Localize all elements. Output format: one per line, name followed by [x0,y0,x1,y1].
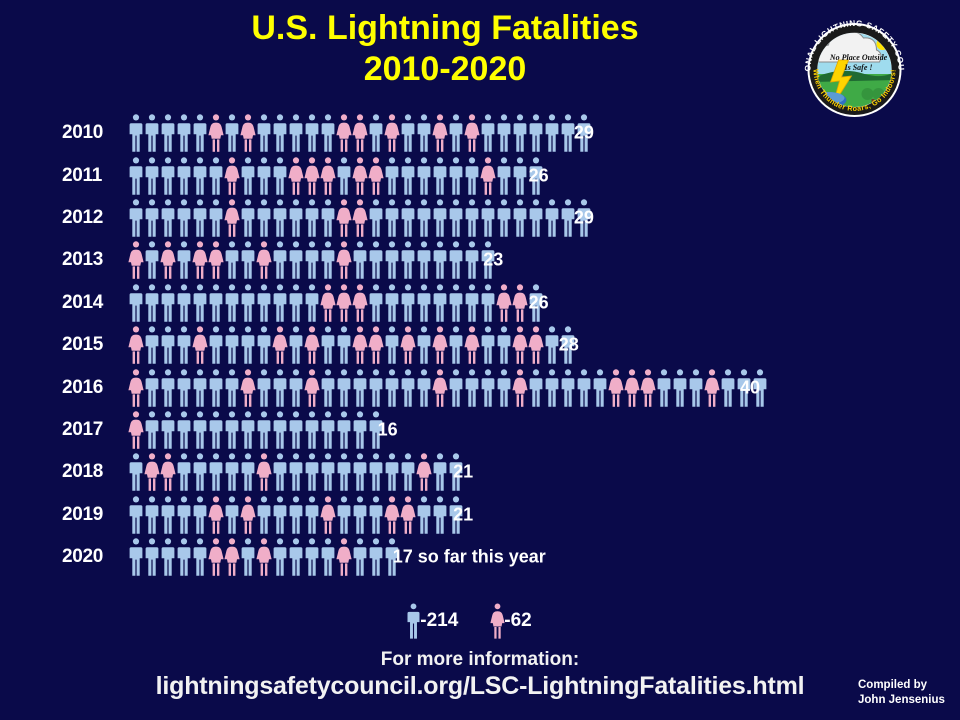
row-figures [128,157,544,195]
title-line-2: 2010-2020 [0,49,890,90]
chart-row: 201821 [0,451,960,493]
row-figures [128,453,464,491]
chart-row: 201029 [0,112,960,154]
row-year-label: 2012 [62,207,124,229]
row-figures [128,496,464,534]
chart-row: 201323 [0,239,960,281]
row-year-label: 2015 [62,334,124,356]
row-count-label: 28 [559,335,579,356]
logo-center-line-1: No Place Outside [829,53,888,62]
row-count-label: 21 [453,504,473,525]
row-year-label: 2018 [62,461,124,483]
row-figures [128,199,592,237]
row-count-label: 17 so far this year [393,547,546,568]
row-figures [128,114,592,152]
row-count-label: 26 [529,165,549,186]
lightning-safety-council-logo: NATIONAL LIGHTNING SAFETY COUNCIL When T… [782,8,927,128]
row-year-label: 2014 [62,292,124,314]
chart-row: 201426 [0,282,960,324]
row-count-label: 26 [529,292,549,313]
compiled-by-line-1: Compiled by [858,678,952,693]
male-figure-icon [406,603,421,639]
chart-row: 201126 [0,154,960,196]
row-figures [128,369,768,407]
row-year-label: 2016 [62,377,124,399]
pictogram-chart: 2010292011262012292013232014262015282016… [0,112,960,578]
row-figures [128,241,496,279]
row-figures [128,284,544,322]
chart-row: 202017 so far this year [0,536,960,578]
chart-row: 201640 [0,366,960,408]
chart-legend: -214-62 [0,603,960,639]
row-count-label: 29 [574,207,594,228]
row-count-label: 16 [378,419,398,440]
chart-row: 201229 [0,197,960,239]
row-count-label: 40 [740,377,760,398]
infographic-canvas: U.S. Lightning Fatalities 2010-2020 [0,0,960,720]
logo-center-line-2: Is Safe ! [843,63,872,72]
compiled-by-credit: Compiled by John Jensenius [858,678,952,708]
footer-info-label: For more information: [0,648,960,671]
row-figures [128,538,400,576]
legend-item-label: -62 [504,610,531,632]
row-year-label: 2019 [62,504,124,526]
footer: For more information: lightningsafetycou… [0,648,960,702]
chart-row: 201528 [0,324,960,366]
female-figure-icon [490,603,505,639]
row-figures [128,411,384,449]
row-year-label: 2017 [62,419,124,441]
legend-item-label: -214 [420,610,458,632]
row-count-label: 21 [453,462,473,483]
chart-row: 201716 [0,409,960,451]
row-count-label: 23 [483,250,503,271]
chart-row: 201921 [0,494,960,536]
legend-item: -62 [490,603,531,639]
row-year-label: 2013 [62,249,124,271]
title-line-1: U.S. Lightning Fatalities [251,9,638,47]
row-figures [128,326,576,364]
row-count-label: 29 [574,123,594,144]
row-year-label: 2010 [62,122,124,144]
legend-item: -214 [406,603,458,639]
row-year-label: 2020 [62,546,124,568]
compiled-by-line-2: John Jensenius [858,693,952,708]
footer-url[interactable]: lightningsafetycouncil.org/LSC-Lightning… [0,671,960,702]
row-year-label: 2011 [62,165,124,187]
